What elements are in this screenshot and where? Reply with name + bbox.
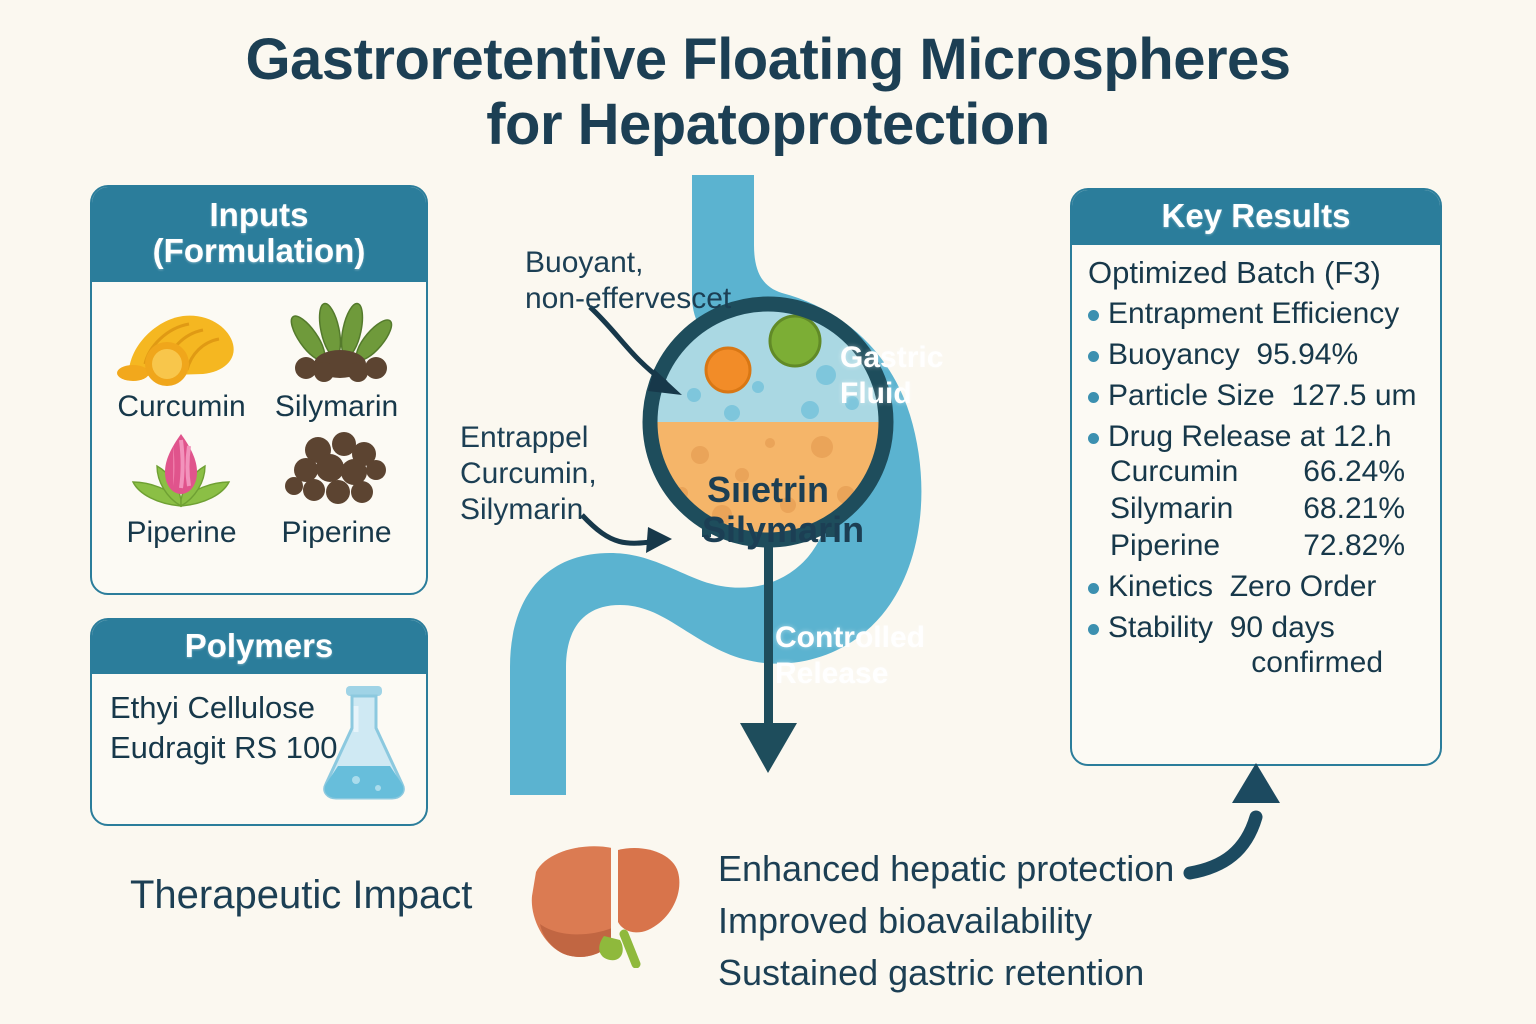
milk-thistle-seeds-icon bbox=[261, 300, 412, 388]
inputs-header-line-1: Inputs bbox=[100, 197, 418, 233]
release-drug-name: Piperine bbox=[1110, 528, 1220, 565]
key-results-header: Key Results bbox=[1072, 190, 1440, 245]
inputs-panel-body: Curcumin bbox=[92, 282, 426, 560]
ingredient-item-piperine-flower: Piperine bbox=[106, 426, 257, 550]
key-results-panel: Key Results Optimized Batch (F3) Entrapm… bbox=[1070, 188, 1442, 766]
release-drug-name: Curcumin bbox=[1110, 454, 1238, 491]
microsphere-text-line-2: Silymarin bbox=[702, 510, 852, 550]
result-label: Stability 90 days bbox=[1108, 611, 1335, 646]
polymers-panel-body: Ethyi Cellulose Eudragit RS 100 bbox=[92, 674, 426, 767]
ingredient-label: Curcumin bbox=[106, 390, 257, 424]
bullet-dot-icon bbox=[1088, 351, 1099, 362]
microsphere-center-text: Sııetrin Silymarin bbox=[684, 470, 852, 549]
results-curved-arrow-icon bbox=[1180, 755, 1310, 890]
result-item-kinetics: Kinetics Zero Order bbox=[1088, 570, 1428, 605]
stomach-microsphere-diagram: Sııetrin Silymarin Buoyant, non-efferves… bbox=[470, 175, 1070, 815]
result-item-entrapment: Entrapment Efficiency bbox=[1088, 297, 1428, 332]
therapeutic-benefits-list: Enhanced hepatic protection Improved bio… bbox=[718, 843, 1174, 998]
inputs-panel-header: Inputs (Formulation) bbox=[92, 187, 426, 282]
label-buoyant-non-effervescent: Buoyant, non-effervescet bbox=[525, 245, 731, 317]
ingredient-label: Piperine bbox=[261, 516, 412, 550]
ingredient-item-piperine-pepper: Piperine bbox=[261, 426, 412, 550]
benefit-item: Enhanced hepatic protection bbox=[718, 843, 1174, 895]
bullet-dot-icon bbox=[1088, 583, 1099, 594]
bullet-dot-icon bbox=[1088, 624, 1099, 635]
benefit-item: Sustained gastric retention bbox=[718, 947, 1174, 999]
ingredient-grid: Curcumin bbox=[106, 292, 412, 550]
result-item-stability: Stability 90 days bbox=[1088, 611, 1428, 646]
inputs-header-line-2: (Formulation) bbox=[100, 233, 418, 269]
page-title: Gastroretentive Floating Microspheres fo… bbox=[0, 28, 1536, 158]
result-item-buoyancy: Buoyancy 95.94% bbox=[1088, 338, 1428, 373]
inputs-formulation-panel: Inputs (Formulation) bbox=[90, 185, 428, 595]
key-results-body: Optimized Batch (F3) Entrapment Efficien… bbox=[1072, 245, 1440, 680]
title-line-1: Gastroretentive Floating Microspheres bbox=[245, 27, 1290, 92]
result-item-drug-release: Drug Release at 12.h bbox=[1088, 420, 1428, 455]
release-percent: 68.21% bbox=[1303, 491, 1405, 528]
liver-icon bbox=[520, 838, 690, 973]
stability-continuation: confirmed bbox=[1088, 646, 1383, 680]
turmeric-root-icon bbox=[106, 300, 257, 388]
result-label: Kinetics Zero Order bbox=[1108, 570, 1376, 605]
bullet-dot-icon bbox=[1088, 310, 1099, 321]
label-gastric-fluid: Gastric Fluid bbox=[840, 340, 943, 412]
release-row-curcumin: Curcumin 66.24% bbox=[1088, 454, 1405, 491]
result-label: Buoyancy 95.94% bbox=[1108, 338, 1358, 373]
release-drug-name: Silymarin bbox=[1110, 491, 1233, 528]
optimized-batch-subtitle: Optimized Batch (F3) bbox=[1088, 255, 1428, 291]
benefit-item: Improved bioavailability bbox=[718, 895, 1174, 947]
release-row-silymarin: Silymarin 68.21% bbox=[1088, 491, 1405, 528]
result-label: Particle Size 127.5 um bbox=[1108, 379, 1417, 414]
label-entrapped-drugs: Entrappel Curcumin, Silymarin bbox=[460, 420, 597, 528]
ingredient-item-silymarin: Silymarin bbox=[261, 300, 412, 424]
label-controlled-release: Controlled Release bbox=[775, 620, 925, 692]
polymers-panel-header: Polymers bbox=[92, 620, 426, 674]
result-label: Entrapment Efficiency bbox=[1108, 297, 1399, 332]
therapeutic-impact-label: Therapeutic Impact bbox=[130, 873, 472, 918]
ingredient-label: Silymarin bbox=[261, 390, 412, 424]
release-row-piperine: Piperine 72.82% bbox=[1088, 528, 1405, 565]
bullet-dot-icon bbox=[1088, 433, 1099, 444]
release-percent: 66.24% bbox=[1303, 454, 1405, 491]
ingredient-label: Piperine bbox=[106, 516, 257, 550]
result-item-particle-size: Particle Size 127.5 um bbox=[1088, 379, 1428, 414]
title-line-2: for Hepatoprotection bbox=[0, 93, 1536, 158]
microsphere-text-line-1: Sııetrin bbox=[684, 470, 852, 510]
bullet-dot-icon bbox=[1088, 392, 1099, 403]
peppercorns-icon bbox=[261, 426, 412, 514]
pink-flower-plant-icon bbox=[106, 426, 257, 514]
result-label: Drug Release at 12.h bbox=[1108, 420, 1392, 455]
conical-flask-icon bbox=[316, 680, 412, 809]
release-percent: 72.82% bbox=[1303, 528, 1405, 565]
ingredient-item-curcumin: Curcumin bbox=[106, 300, 257, 424]
infographic-canvas: Gastroretentive Floating Microspheres fo… bbox=[0, 0, 1536, 1024]
polymers-panel: Polymers Ethyi Cellulose Eudragit RS 100 bbox=[90, 618, 428, 826]
